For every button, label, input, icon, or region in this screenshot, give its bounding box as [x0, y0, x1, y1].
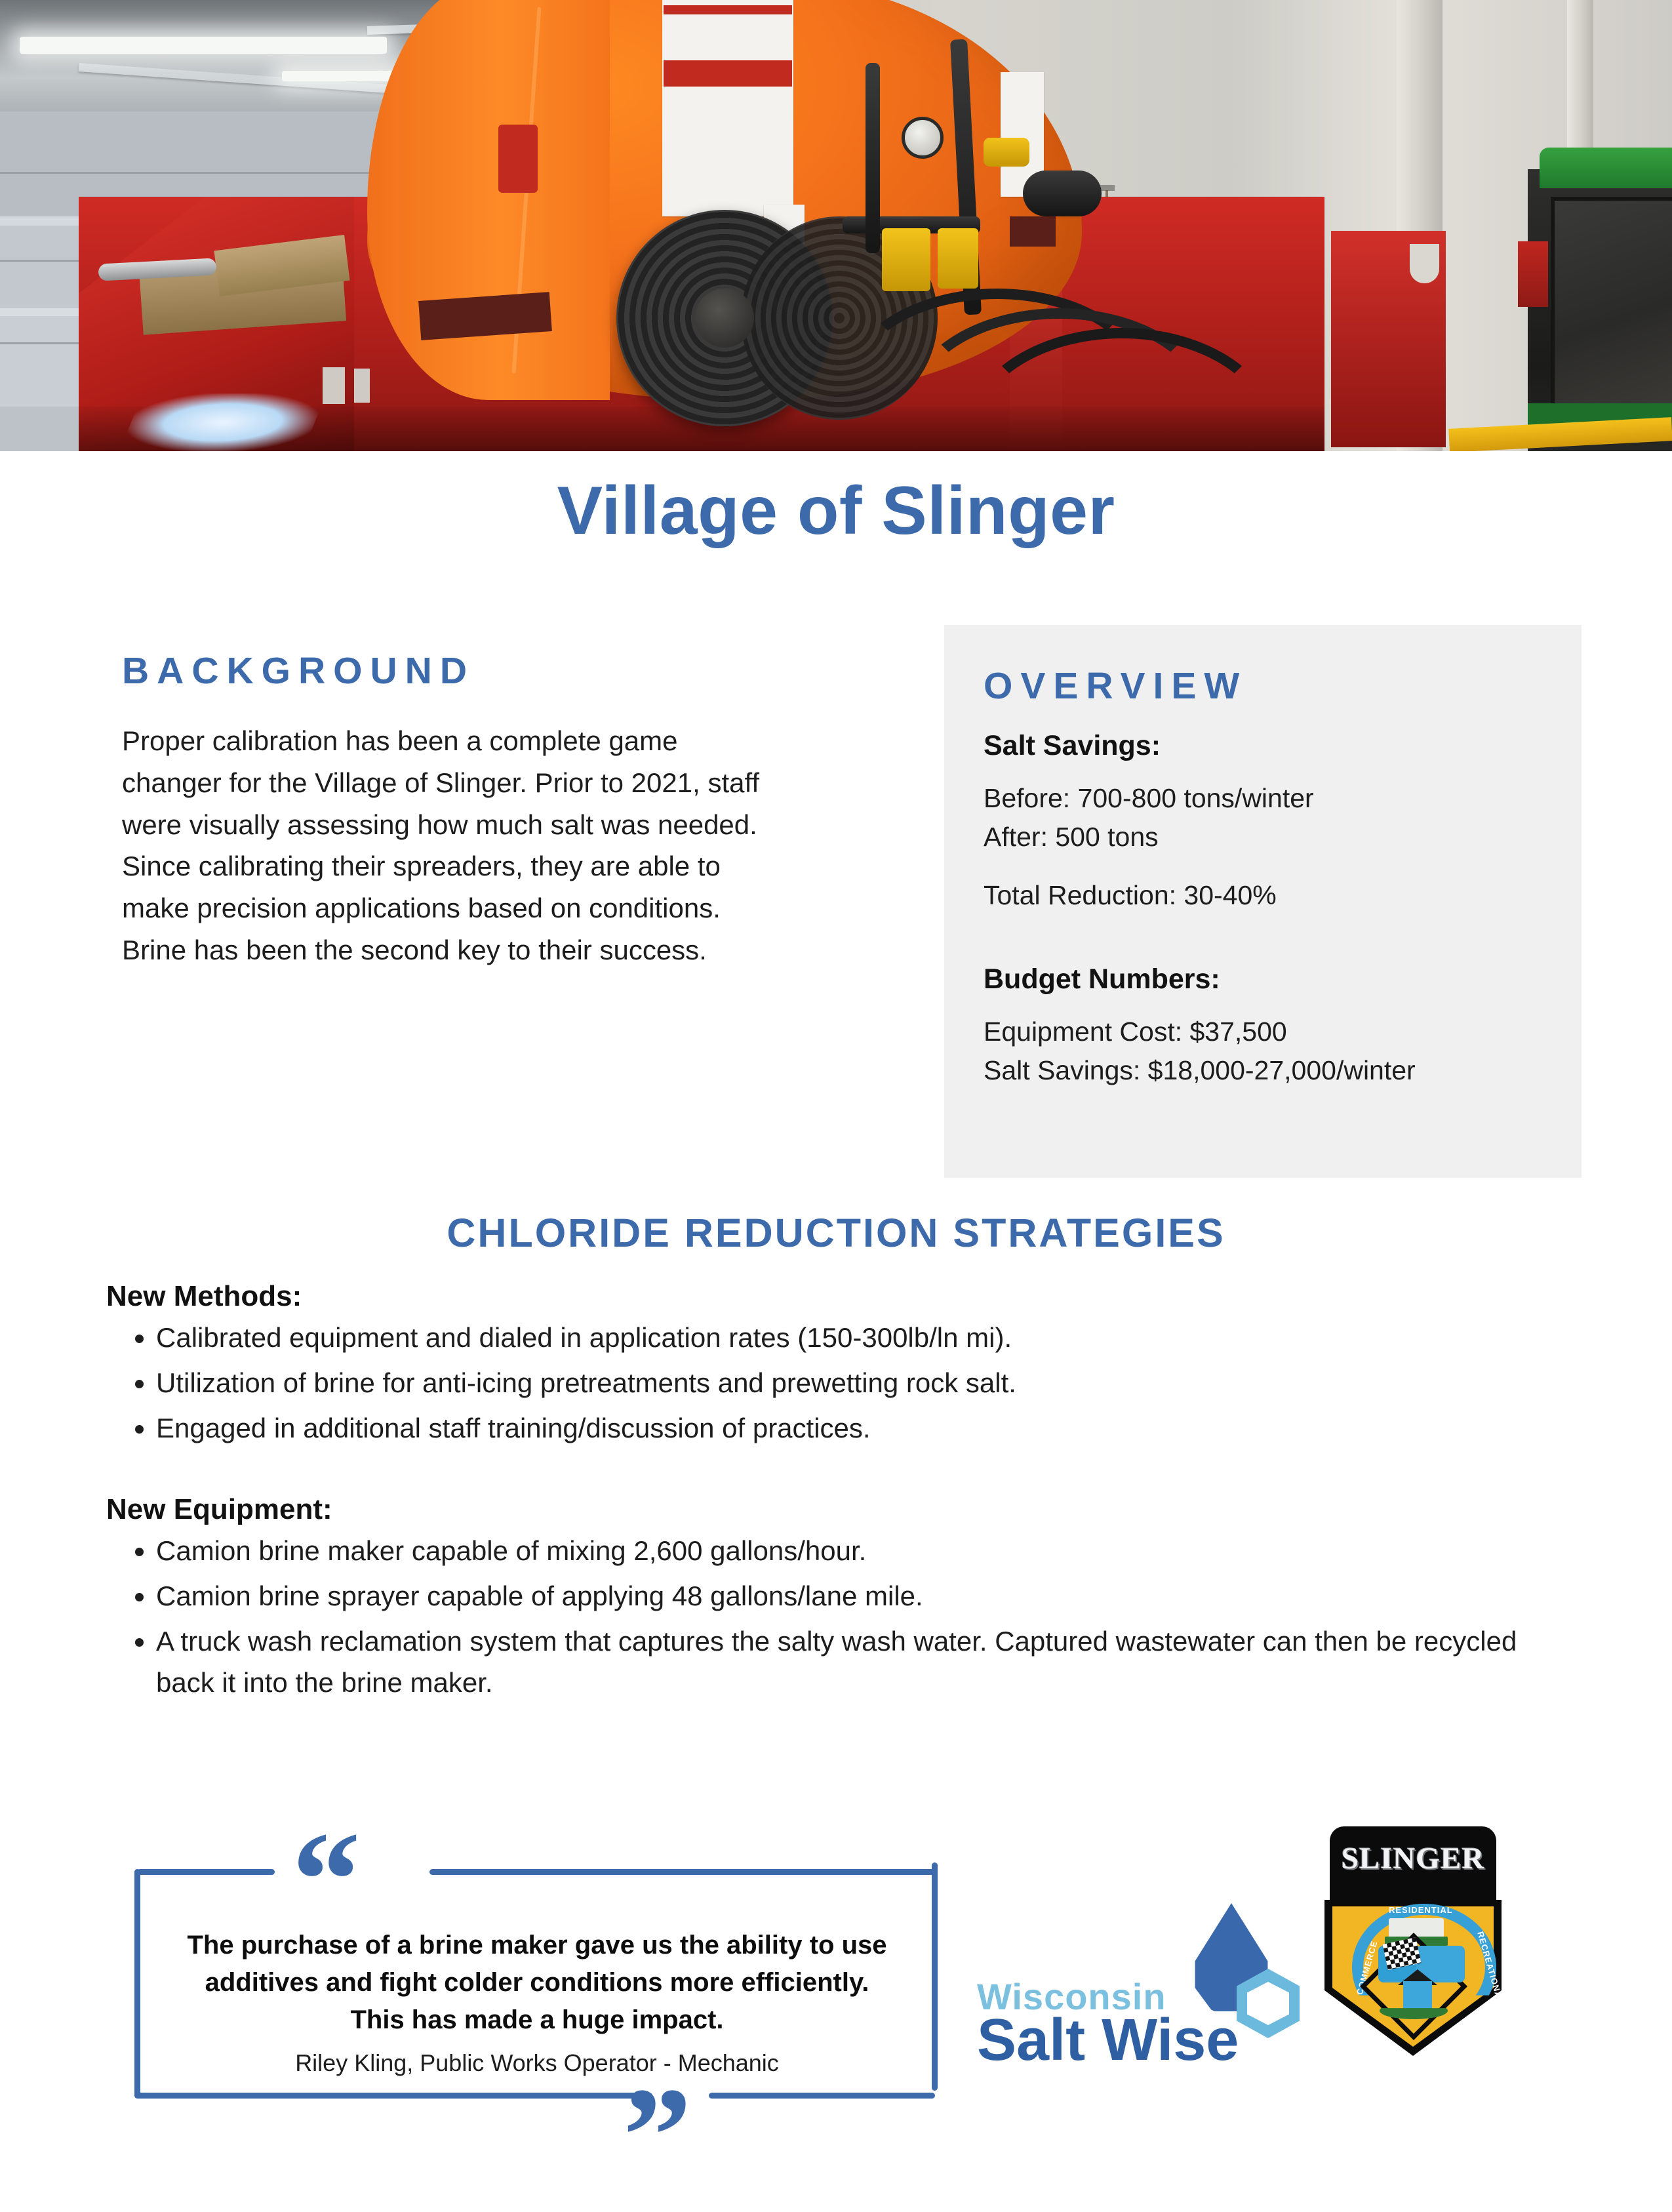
ceiling-light	[20, 37, 387, 54]
close-quote-icon: ”	[623, 2067, 692, 2205]
pressure-gauge	[902, 117, 944, 159]
label-red-band	[664, 5, 792, 14]
seal-name-text: SLINGER	[1330, 1841, 1496, 1876]
background-section: BACKGROUND Proper calibration has been a…	[122, 649, 784, 999]
list-item: Engaged in additional staff training/dis…	[156, 1407, 1582, 1449]
yellow-cap	[984, 138, 1029, 167]
background-heading: BACKGROUND	[122, 649, 784, 693]
tank-warning-label	[662, 0, 793, 216]
salt-savings-label: Salt Savings:	[984, 730, 1582, 762]
page-title: Village of Slinger	[0, 472, 1672, 550]
new-equipment-label: New Equipment:	[106, 1493, 1582, 1526]
hoist-cutout	[1410, 244, 1439, 283]
brine-tank-end-cap	[367, 0, 610, 400]
tank-marker	[323, 367, 345, 404]
tank-marker	[354, 369, 370, 403]
tractor-roof	[1540, 148, 1672, 188]
tank-dark-label	[1010, 216, 1056, 247]
hero-photo-banner	[0, 0, 1672, 451]
quote-text: The purchase of a brine maker gave us th…	[176, 1927, 898, 2038]
salt-after-value: After: 500 tons	[984, 818, 1582, 856]
list-item: Camion brine maker capable of mixing 2,6…	[156, 1530, 1582, 1571]
overview-heading: OVERVIEW	[984, 664, 1582, 708]
list-item: Utilization of brine for anti-icing pret…	[156, 1362, 1582, 1403]
strategies-section: New Methods: Calibrated equipment and di…	[106, 1280, 1582, 1707]
equipment-cost-value: Equipment Cost: $37,500	[984, 1013, 1582, 1051]
house-icon	[1403, 1981, 1432, 2009]
quote-border-left	[134, 1869, 140, 2097]
seal-banner-residential: RESIDENTIAL	[1389, 1905, 1453, 1915]
black-hose	[866, 63, 880, 253]
strategies-heading: CHLORIDE REDUCTION STRATEGIES	[0, 1210, 1672, 1256]
quote-border-bottom-right	[709, 2093, 935, 2099]
quote-border-right	[932, 1862, 938, 2091]
quote-border-bottom-left	[134, 2093, 652, 2099]
coupler	[1023, 171, 1102, 216]
list-item: A truck wash reclamation system that cap…	[156, 1620, 1582, 1703]
label-red-band	[664, 60, 792, 87]
budget-numbers-label: Budget Numbers:	[984, 963, 1582, 995]
new-methods-list: Calibrated equipment and dialed in appli…	[106, 1317, 1582, 1449]
quote-border-top-right	[429, 1869, 938, 1875]
background-paragraph: Proper calibration has been a complete g…	[122, 720, 784, 971]
light-reflection	[119, 393, 327, 451]
testimonial-quote-box: “ ” The purchase of a brine maker gave u…	[134, 1862, 938, 2105]
quote-attribution: Riley Kling, Public Works Operator - Mec…	[176, 2049, 898, 2077]
tank-logo-badge	[498, 125, 538, 193]
slinger-village-seal: SLINGER RESIDENTIAL COMMERCE RECREATIONA…	[1324, 1826, 1502, 2056]
total-reduction-value: Total Reduction: 30-40%	[984, 876, 1582, 915]
red-equipment-post	[1518, 241, 1548, 307]
hose-reel-hub	[695, 289, 754, 348]
quote-border-top-left	[137, 1869, 275, 1875]
new-methods-label: New Methods:	[106, 1280, 1582, 1313]
list-item: Camion brine sprayer capable of applying…	[156, 1575, 1582, 1617]
logo-line-salt-wise: Salt Wise	[977, 2007, 1239, 2074]
new-equipment-list: Camion brine maker capable of mixing 2,6…	[106, 1530, 1582, 1703]
tractor-cab-window	[1551, 197, 1672, 421]
yellow-valve	[938, 228, 978, 289]
garage-photo	[0, 0, 1672, 451]
door-seam	[0, 172, 420, 174]
overview-panel: OVERVIEW Salt Savings: Before: 700-800 t…	[944, 625, 1582, 1178]
wisconsin-salt-wise-logo: Wisconsin Salt Wise	[977, 1915, 1285, 2066]
list-item: Calibrated equipment and dialed in appli…	[156, 1317, 1582, 1358]
salt-savings-dollars-value: Salt Savings: $18,000-27,000/winter	[984, 1051, 1582, 1090]
salt-before-value: Before: 700-800 tons/winter	[984, 779, 1582, 818]
yellow-valve	[882, 228, 930, 291]
